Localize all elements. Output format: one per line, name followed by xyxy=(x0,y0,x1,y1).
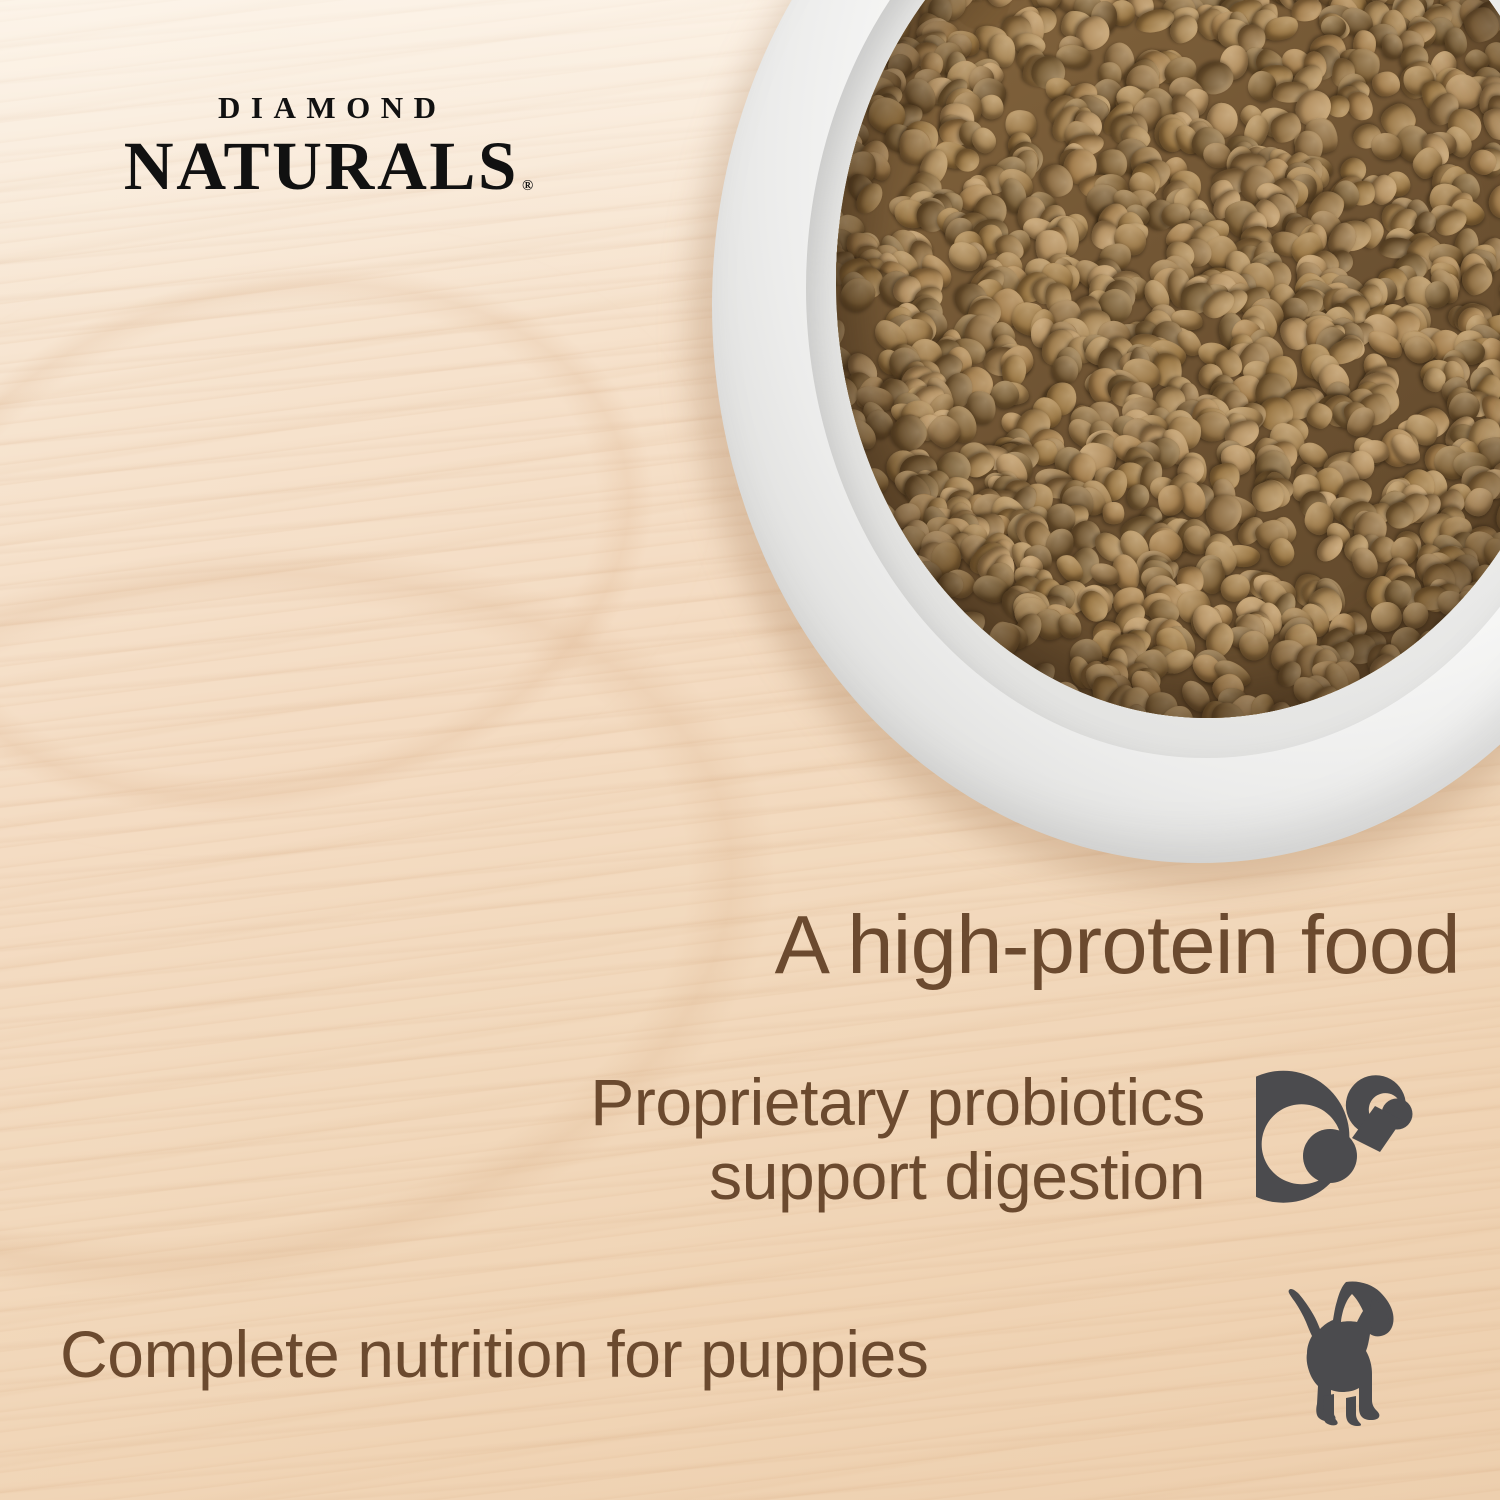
logo-wordmark-main-text: NATURALS xyxy=(124,128,519,204)
probiotic-cell-icon xyxy=(1256,1048,1446,1224)
bowl-interior xyxy=(836,0,1500,718)
claim-puppies-text: Complete nutrition for puppies xyxy=(60,1318,1220,1391)
puppy-silhouette-icon xyxy=(1280,1274,1406,1426)
page-title: A high-protein food xyxy=(120,903,1460,988)
claim-probiotics-text: Proprietary probiotics support digestion xyxy=(140,1066,1205,1214)
logo-wordmark-top: DIAMOND xyxy=(112,92,542,123)
claim-probiotics-line2: support digestion xyxy=(140,1140,1205,1214)
promo-image: DIAMOND NATURALS® A high-protein food Pr… xyxy=(0,0,1500,1500)
logo-wordmark-main: NATURALS® xyxy=(112,132,542,201)
claim-probiotics-line1: Proprietary probiotics xyxy=(140,1066,1205,1140)
kibble-piece xyxy=(1372,72,1400,97)
kibble-highlight xyxy=(1372,72,1400,97)
brand-logo: DIAMOND NATURALS® xyxy=(112,92,542,201)
registered-trademark-icon: ® xyxy=(522,178,533,194)
